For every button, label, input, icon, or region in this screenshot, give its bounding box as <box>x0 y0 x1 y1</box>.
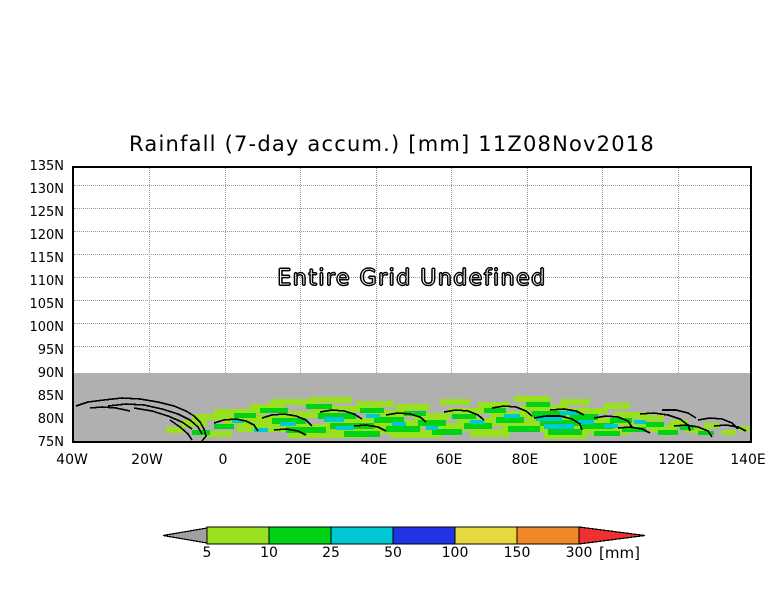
x-axis-tick-top <box>300 166 302 168</box>
y-axis-tick <box>72 166 74 168</box>
colorbar-tick-25: 25 <box>306 546 356 560</box>
y-axis-tick-right <box>750 300 752 302</box>
x-axis-label-20w: 20W <box>112 453 182 467</box>
y-axis-tick-right <box>750 208 752 210</box>
colorbar-segment-100-150 <box>455 527 517 544</box>
colorbar-tick-150: 150 <box>492 546 542 560</box>
y-axis-label-125n: 125N <box>10 206 64 219</box>
x-axis-tick-top <box>678 166 680 168</box>
y-axis-tick <box>72 346 74 348</box>
y-axis-tick <box>72 277 74 279</box>
x-axis-tick <box>602 441 604 443</box>
colorbar-tick-300: 300 <box>554 546 604 560</box>
y-axis-label-85n: 85N <box>10 390 64 403</box>
x-axis-tick <box>300 441 302 443</box>
y-axis-tick-right <box>750 396 752 398</box>
map-plot-area: Entire Grid Undefined <box>74 168 750 441</box>
x-axis-tick <box>149 441 151 443</box>
y-axis-label-130n: 130N <box>10 183 64 196</box>
y-axis-tick <box>72 442 74 443</box>
x-axis-label-40e: 40E <box>339 453 409 467</box>
y-axis-tick <box>72 419 74 421</box>
y-axis-label-75n: 75N <box>10 436 64 449</box>
x-axis-label-80e: 80E <box>490 453 560 467</box>
y-axis-tick <box>72 231 74 233</box>
x-axis-tick-top <box>149 166 151 168</box>
colorbar-tick-50: 50 <box>368 546 418 560</box>
y-axis-label-95n: 95N <box>10 344 64 357</box>
colorbar-segment-150-300 <box>517 527 579 544</box>
x-axis-tick <box>376 441 378 443</box>
x-axis-label-140e: 140E <box>713 453 783 467</box>
y-axis-tick <box>72 396 74 398</box>
y-axis-label-120n: 120N <box>10 229 64 242</box>
y-axis-tick <box>72 323 74 325</box>
y-axis-tick-right <box>750 277 752 279</box>
colorbar-segment-50-100 <box>393 527 455 544</box>
y-axis-label-115n: 115N <box>10 252 64 265</box>
x-axis-tick-top <box>527 166 529 168</box>
colorbar-extend-high <box>579 527 645 544</box>
x-axis-label-100e: 100E <box>565 453 635 467</box>
map-plot-frame: Entire Grid Undefined <box>72 166 752 443</box>
colorbar-segment-5-10 <box>207 527 269 544</box>
x-axis-label-60e: 60E <box>414 453 484 467</box>
colorbar-extend-low <box>163 528 207 543</box>
y-axis-tick-right <box>750 254 752 256</box>
colorbar-segment-25-50 <box>331 527 393 544</box>
y-axis-label-100n: 100N <box>10 321 64 334</box>
x-axis-tick-top <box>225 166 227 168</box>
colorbar-units-label: [mm] <box>599 546 659 561</box>
x-axis-tick <box>527 441 529 443</box>
y-axis-tick-right <box>750 346 752 348</box>
x-axis-tick <box>72 441 74 443</box>
x-axis-tick <box>750 441 752 443</box>
x-axis-tick <box>225 441 227 443</box>
y-axis-label-80n: 80N <box>10 413 64 426</box>
x-axis-tick-top <box>451 166 453 168</box>
page-title: Rainfall (7-day accum.) [mm] 11Z08Nov201… <box>0 132 784 156</box>
colorbar-segment-10-25 <box>269 527 331 544</box>
x-axis-tick-top <box>602 166 604 168</box>
y-axis-tick-right <box>750 231 752 233</box>
rainfall-field <box>74 168 752 443</box>
colorbar: 5 10 25 50 100 150 300 [mm] <box>163 524 647 570</box>
colorbar-tick-5: 5 <box>182 546 232 560</box>
x-axis-tick-top <box>376 166 378 168</box>
y-axis-tick-right <box>750 373 752 375</box>
y-axis-tick-right <box>750 185 752 187</box>
y-axis-label-135n: 135N <box>10 160 64 173</box>
colorbar-tick-10: 10 <box>244 546 294 560</box>
y-axis-tick <box>72 373 74 375</box>
y-axis-tick <box>72 208 74 210</box>
y-axis-tick <box>72 300 74 302</box>
x-axis-label-0: 0 <box>188 453 258 467</box>
colorbar-tick-100: 100 <box>430 546 480 560</box>
y-axis-label-90n: 90N <box>10 367 64 380</box>
x-axis-tick <box>678 441 680 443</box>
x-axis-tick <box>451 441 453 443</box>
y-axis-label-110n: 110N <box>10 275 64 288</box>
y-axis-tick <box>72 185 74 187</box>
y-axis-tick <box>72 254 74 256</box>
y-axis-tick-right <box>750 419 752 421</box>
x-axis-label-40w: 40W <box>37 453 107 467</box>
y-axis-tick-right <box>750 323 752 325</box>
y-axis-label-105n: 105N <box>10 298 64 311</box>
x-axis-label-120e: 120E <box>641 453 711 467</box>
x-axis-label-20e: 20E <box>263 453 333 467</box>
